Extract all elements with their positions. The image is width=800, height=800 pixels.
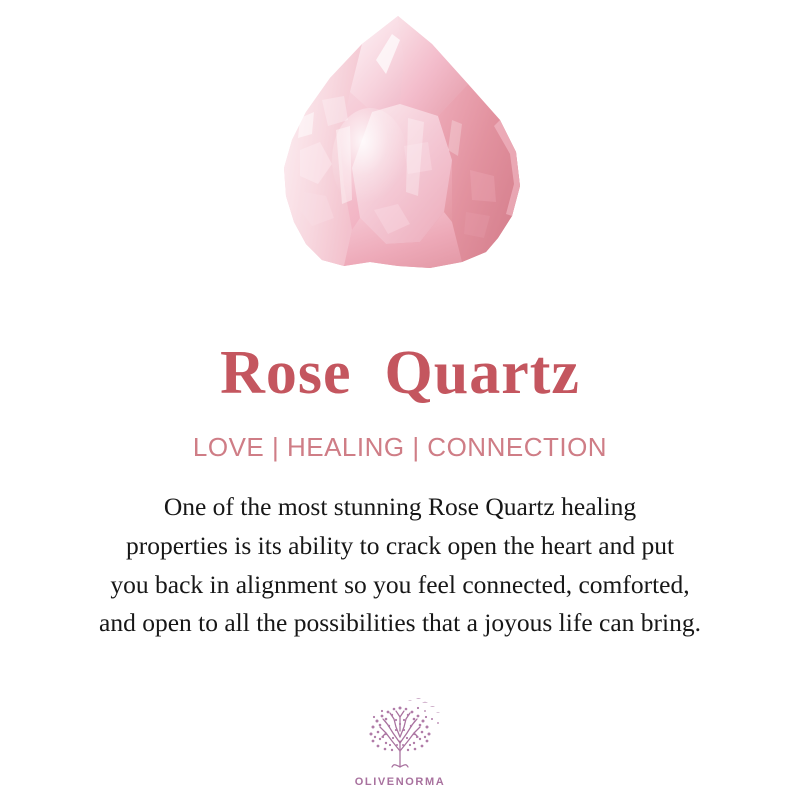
crystal-facet-apex-left — [350, 16, 404, 112]
rose-quartz-info-card: Rose Quartz LOVE | HEALING | CONNECTION … — [0, 0, 800, 800]
rose-quartz-crystal-image — [0, 0, 800, 300]
page-title: Rose Quartz — [220, 342, 580, 404]
brand-wordmark: OLIVENORMA — [355, 777, 446, 788]
tree-of-life-icon — [352, 693, 448, 775]
description-text: One of the most stunning Rose Quartz hea… — [30, 488, 770, 643]
brand-logo: OLIVENORMA — [335, 693, 465, 788]
description-line: properties is its ability to crack open … — [30, 527, 770, 566]
description-line: you back in alignment so you feel connec… — [30, 566, 770, 605]
description-line: One of the most stunning Rose Quartz hea… — [30, 488, 770, 527]
description-line: and open to all the possibilities that a… — [30, 604, 770, 643]
hero-image-container — [0, 0, 800, 300]
keyword-subtitle: LOVE | HEALING | CONNECTION — [193, 434, 607, 460]
